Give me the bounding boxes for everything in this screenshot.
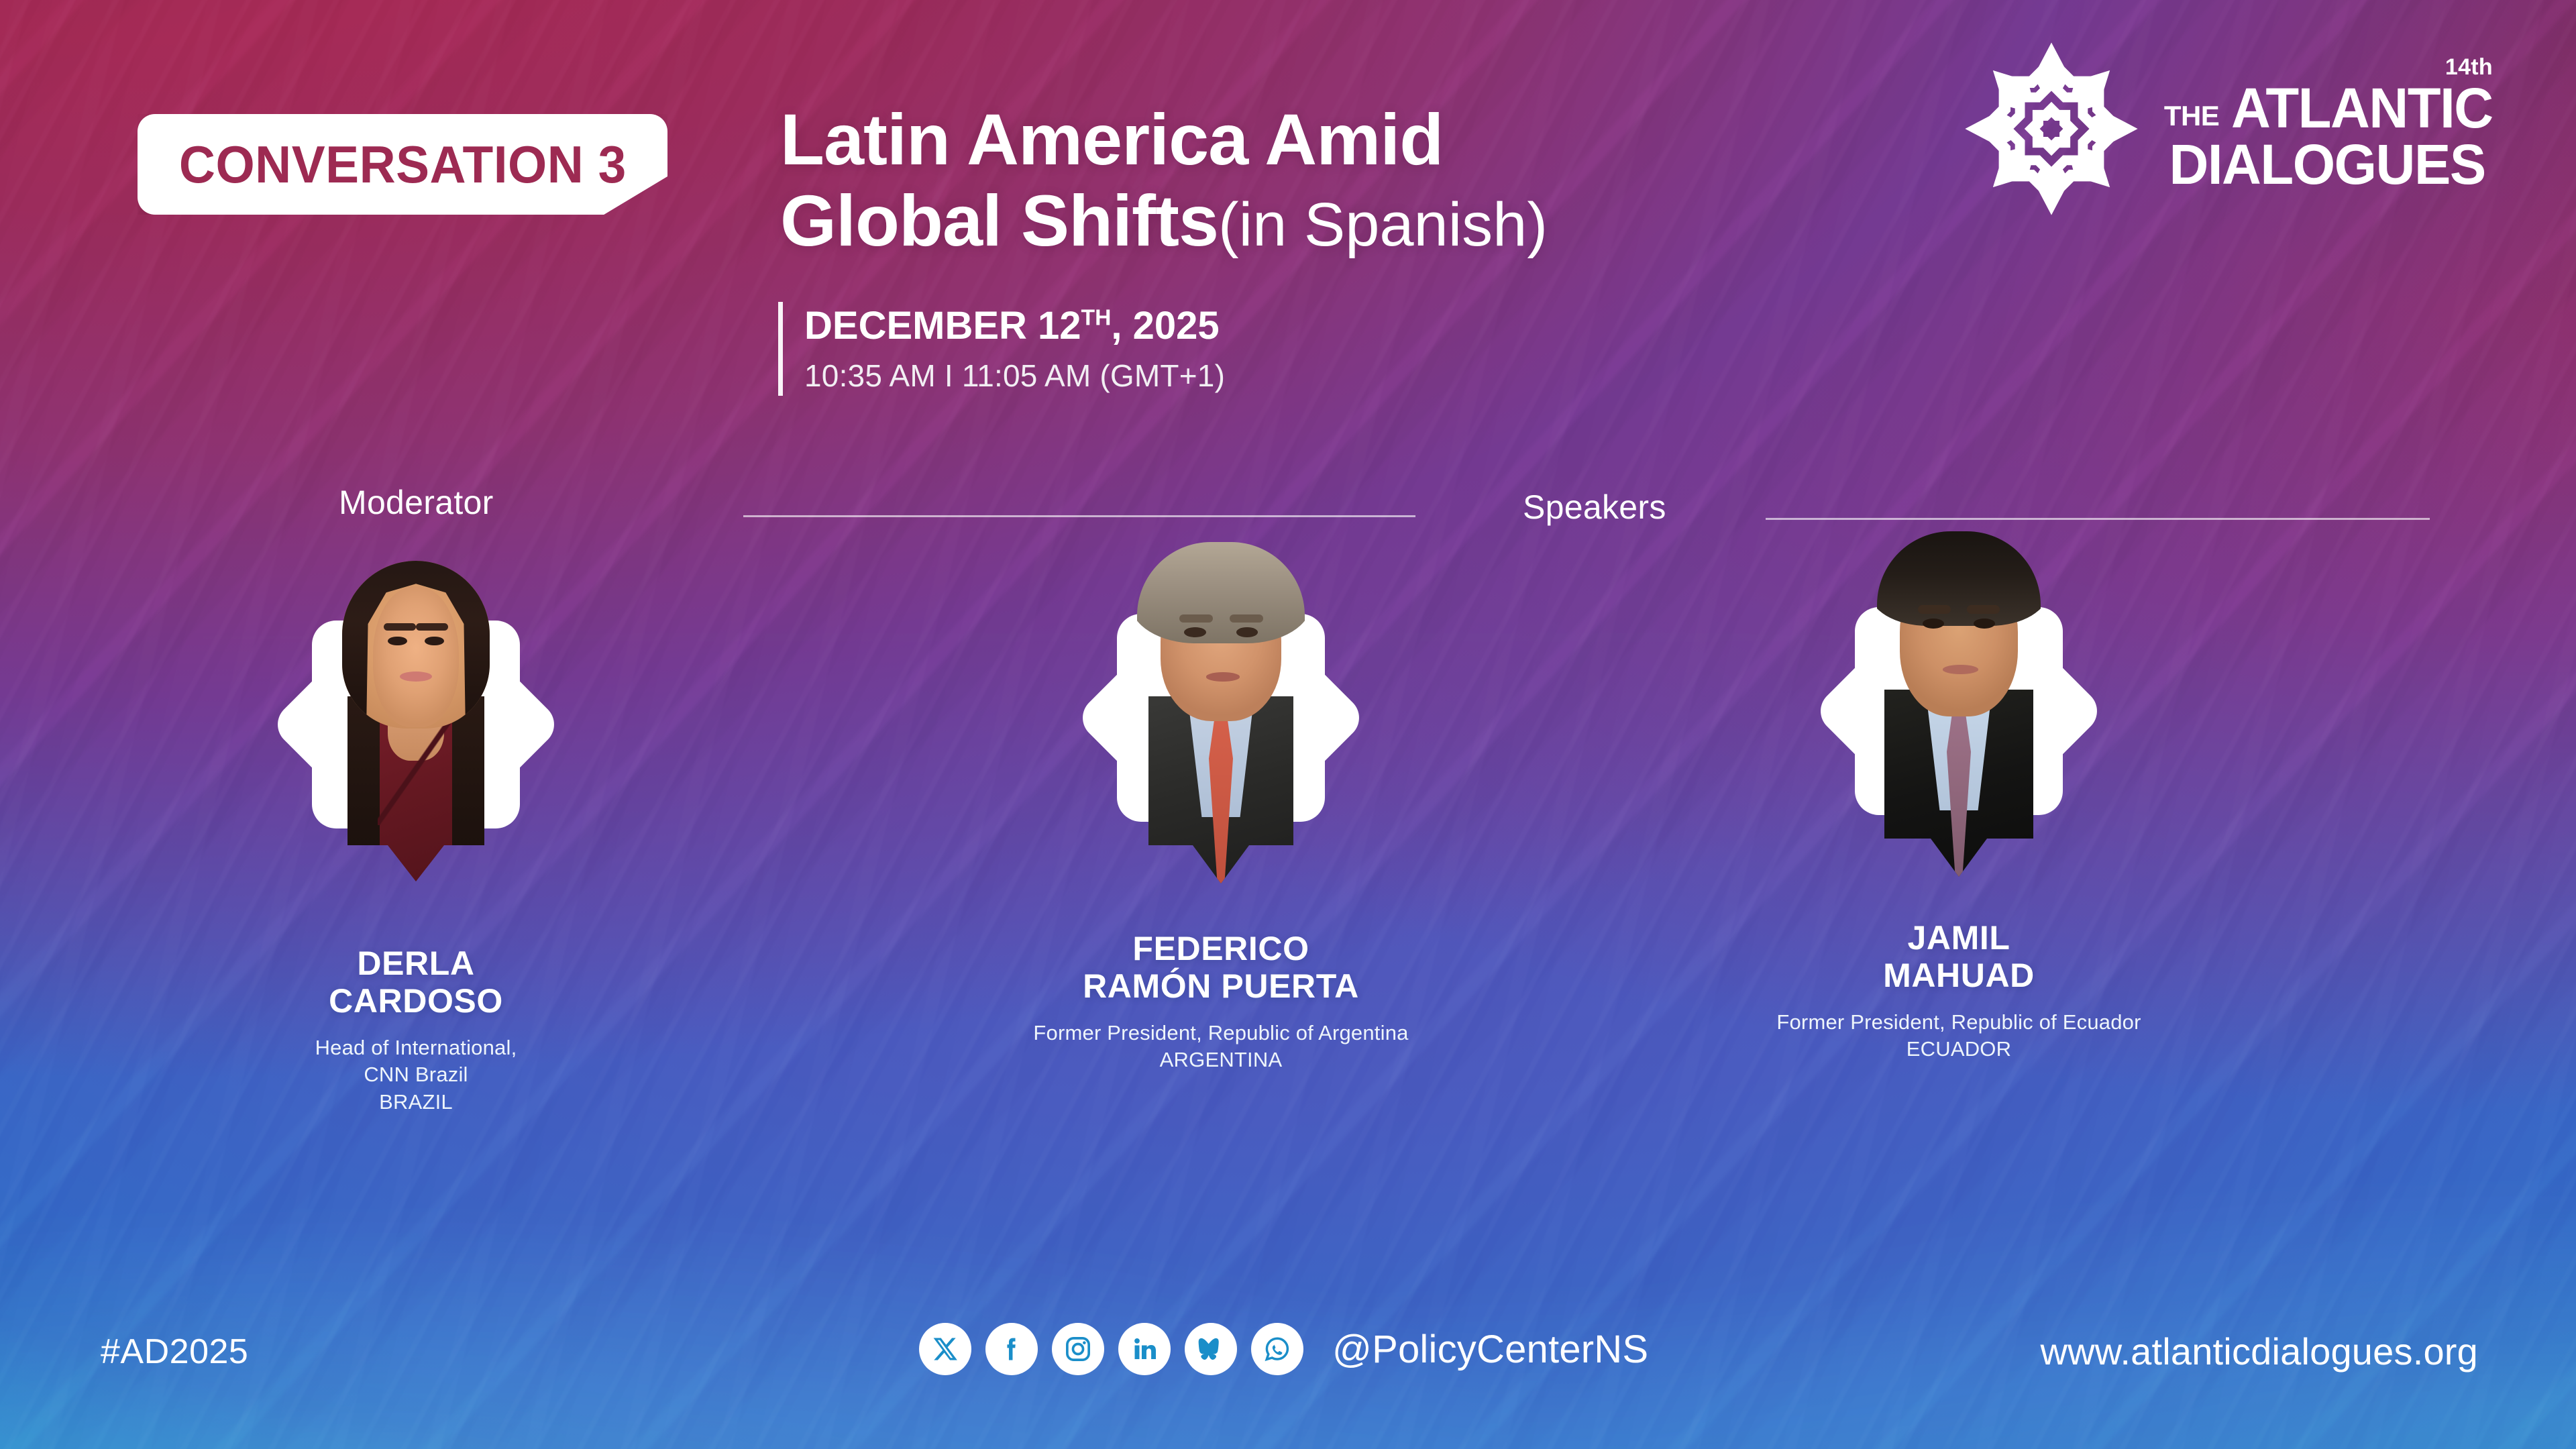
portrait-photo [315,537,517,885]
divider-rule-left [743,515,1415,517]
speakers-section-label: Speakers [1523,488,1666,527]
portrait-head [1137,542,1305,723]
conversation-badge: CONVERSATION 3 [138,114,667,215]
person-first-name: FEDERICO [1132,930,1309,967]
bluesky-icon[interactable] [1185,1323,1237,1375]
person-name: JAMIL MAHUAD [1744,919,2173,994]
person-org: CNN Brazil [364,1063,468,1086]
person-country: ECUADOR [1744,1036,2173,1063]
person-card-speaker-1: FEDERICO RAMÓN PUERTA Former President, … [1006,530,1436,1074]
portrait-head [1877,531,2041,716]
logo-atlantic: ATLANTIC [2231,83,2493,134]
logo-wordmark: 14th THE ATLANTIC DIALOGUES [2164,65,2497,192]
logo-dialogues: DIALOGUES [2169,136,2491,193]
person-role: Former President, Republic of Argentina … [1006,1020,1436,1074]
instagram-icon[interactable] [1052,1323,1104,1375]
session-title-line1: Latin America Amid [780,101,1548,179]
divider-rule-right [1766,518,2430,520]
person-last-name: RAMÓN PUERTA [1083,967,1359,1005]
person-name: DERLA CARDOSO [201,945,631,1020]
portrait-photo [1858,523,2059,872]
portrait-body [1858,690,2059,891]
event-poster: CONVERSATION 3 Latin America Amid Global… [0,0,2576,1449]
social-handle: @PolicyCenterNS [1332,1327,1648,1372]
person-card-speaker-2: JAMIL MAHUAD Former President, Republic … [1744,523,2173,1063]
person-card-moderator: DERLA CARDOSO Head of International, CNN… [201,537,631,1116]
session-title: Latin America Amid Global Shifts(in Span… [780,101,1548,260]
person-role: Head of International, CNN Brazil BRAZIL [201,1034,631,1116]
session-date-year: , 2025 [1111,304,1219,347]
moderator-section-label: Moderator [339,483,494,522]
person-last-name: MAHUAD [1883,957,2035,994]
session-date-ordinal: TH [1081,306,1112,331]
portrait-frame [1744,523,2173,899]
event-hashtag: #AD2025 [101,1332,248,1372]
person-title: Former President, Republic of Ecuador [1776,1010,2141,1034]
logo-the: THE [2164,103,2220,135]
atlantic-dialogues-logo: 14th THE ATLANTIC DIALOGUES [1962,39,2497,219]
session-title-language: (in Spanish) [1218,191,1548,259]
portrait-photo [1120,530,1322,879]
facebook-icon[interactable] [985,1323,1038,1375]
portrait-frame [201,537,631,912]
session-date: DECEMBER 12TH, 2025 [804,302,1225,351]
social-links: @PolicyCenterNS [919,1323,1648,1375]
person-country: BRAZIL [201,1089,631,1116]
session-datetime: DECEMBER 12TH, 2025 10:35 AM I 11:05 AM … [778,302,1225,396]
rosette-mandala-icon [1962,39,2141,219]
portrait-body [1120,696,1322,898]
person-title: Head of International, [315,1036,517,1059]
session-title-main: Global Shifts [780,180,1218,261]
portrait-frame [1006,530,1436,906]
session-title-line2: Global Shifts(in Spanish) [780,182,1548,260]
person-first-name: DERLA [357,945,474,982]
person-name: FEDERICO RAMÓN PUERTA [1006,930,1436,1005]
session-time: 10:35 AM I 11:05 AM (GMT+1) [804,355,1225,396]
whatsapp-icon[interactable] [1251,1323,1303,1375]
portrait-head [342,561,490,729]
x-twitter-icon[interactable] [919,1323,971,1375]
event-website[interactable]: www.atlanticdialogues.org [2041,1330,2478,1373]
person-title: Former President, Republic of Argentina [1033,1021,1408,1044]
conversation-badge-label: CONVERSATION 3 [179,134,627,195]
person-role: Former President, Republic of Ecuador EC… [1744,1009,2173,1063]
linkedin-icon[interactable] [1118,1323,1171,1375]
person-last-name: CARDOSO [329,982,503,1020]
session-date-text: DECEMBER 12 [804,304,1081,347]
person-country: ARGENTINA [1006,1046,1436,1073]
person-first-name: JAMIL [1908,919,2010,957]
